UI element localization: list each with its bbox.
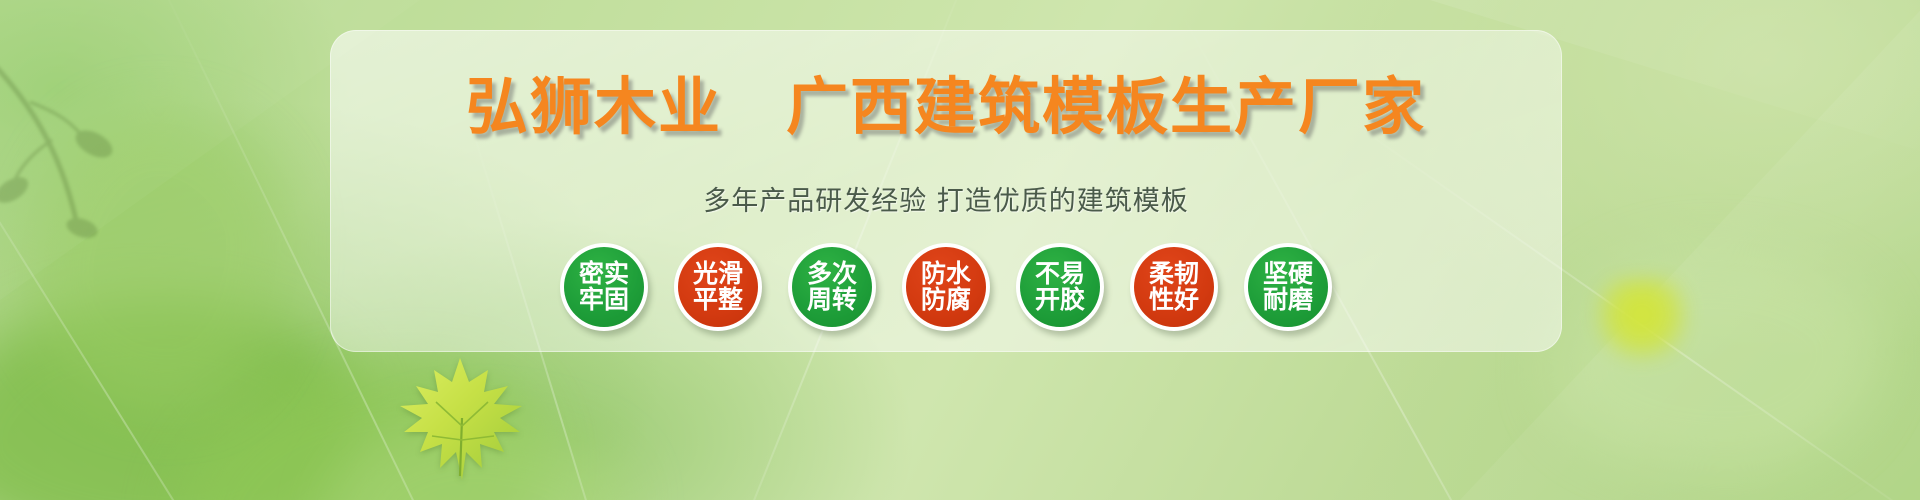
feature-badge-line2: 平整 <box>693 287 743 314</box>
feature-badge-disc: 防水防腐 <box>906 247 986 327</box>
feature-badge[interactable]: 柔韧性好 <box>1130 243 1218 331</box>
page-title: 弘狮木业 广西建筑模板生产厂家 <box>330 76 1562 138</box>
feature-badge[interactable]: 密实牢固 <box>560 243 648 331</box>
feature-badge-disc: 坚硬耐磨 <box>1248 247 1328 327</box>
promo-banner: 弘狮木业 广西建筑模板生产厂家 多年产品研发经验 打造优质的建筑模板 密实牢固光… <box>0 0 1920 500</box>
feature-badge-disc: 柔韧性好 <box>1134 247 1214 327</box>
feature-badge-line1: 柔韧 <box>1149 261 1199 288</box>
feature-badge-line2: 牢固 <box>579 287 629 314</box>
feature-badge[interactable]: 防水防腐 <box>902 243 990 331</box>
feature-badge[interactable]: 不易开胶 <box>1016 243 1104 331</box>
feature-badge[interactable]: 光滑平整 <box>674 243 762 331</box>
feature-badge[interactable]: 坚硬耐磨 <box>1244 243 1332 331</box>
yellow-light-blob-icon <box>1596 278 1688 360</box>
feature-badge-line1: 防水 <box>921 261 971 288</box>
feature-badge[interactable]: 多次周转 <box>788 243 876 331</box>
feature-badge-line1: 坚硬 <box>1263 261 1313 288</box>
feature-badge-disc: 多次周转 <box>792 247 872 327</box>
feature-badge-line2: 耐磨 <box>1263 287 1313 314</box>
subtitle-text: 多年产品研发经验 打造优质的建筑模板 <box>330 188 1562 215</box>
feature-badge-disc: 不易开胶 <box>1020 247 1100 327</box>
feature-badge-line1: 多次 <box>807 261 857 288</box>
feature-badge-row: 密实牢固光滑平整多次周转防水防腐不易开胶柔韧性好坚硬耐磨 <box>382 235 1510 339</box>
maple-leaf-icon <box>396 352 528 484</box>
branch-silhouette-icon <box>0 40 170 260</box>
feature-badge-line2: 防腐 <box>921 287 971 314</box>
feature-badge-line1: 不易 <box>1035 261 1085 288</box>
feature-badge-line2: 开胶 <box>1035 287 1085 314</box>
content-panel: 弘狮木业 广西建筑模板生产厂家 多年产品研发经验 打造优质的建筑模板 密实牢固光… <box>330 30 1562 352</box>
feature-badge-line2: 周转 <box>807 287 857 314</box>
feature-badge-line2: 性好 <box>1149 287 1199 314</box>
feature-badge-line1: 密实 <box>579 261 629 288</box>
feature-badge-line1: 光滑 <box>693 261 743 288</box>
feature-badge-disc: 密实牢固 <box>564 247 644 327</box>
feature-badge-disc: 光滑平整 <box>678 247 758 327</box>
